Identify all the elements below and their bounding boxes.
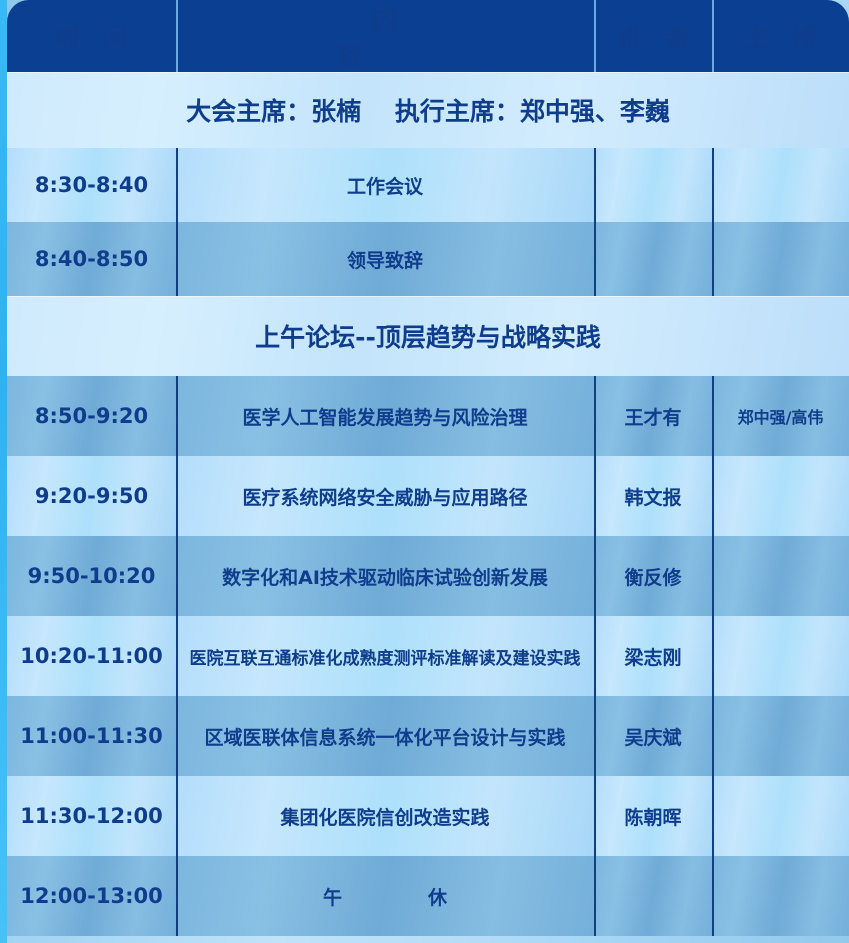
table-row: 8:30-8:40 工作会议 — [7, 148, 849, 222]
cell-speaker: 吴庆斌 — [594, 696, 712, 776]
cell-host — [712, 536, 849, 616]
section-banner-text: 上午论坛--顶层趋势与战略实践 — [7, 296, 849, 376]
cell-host — [712, 456, 849, 536]
cell-content: 领导致辞 — [176, 222, 594, 296]
chair-banner-text: 大会主席：张楠 执行主席：郑中强、李巍 — [7, 72, 849, 148]
cell-time: 9:20-9:50 — [7, 456, 176, 536]
section-banner-row: 上午论坛--顶层趋势与战略实践 — [7, 296, 849, 376]
cell-host — [712, 856, 849, 936]
cell-content: 数字化和AI技术驱动临床试验创新发展 — [176, 536, 594, 616]
cell-host — [712, 616, 849, 696]
table-row: 11:00-11:30 区域医联体信息系统一体化平台设计与实践 吴庆斌 — [7, 696, 849, 776]
table-row: 8:40-8:50 领导致辞 — [7, 222, 849, 296]
cell-content: 集团化医院信创改造实践 — [176, 776, 594, 856]
left-accent-rail — [0, 0, 7, 943]
conference-schedule-table: 时 间 内 容 讲 者 主 持 大会主席：张楠 执行主席：郑中强、李巍 8:30… — [7, 0, 849, 936]
cell-content: 医学人工智能发展趋势与风险治理 — [176, 376, 594, 456]
table-row: 11:30-12:00 集团化医院信创改造实践 陈朝晖 — [7, 776, 849, 856]
header-row: 时 间 内 容 讲 者 主 持 — [7, 0, 849, 72]
cell-speaker: 陈朝晖 — [594, 776, 712, 856]
table-row: 9:50-10:20 数字化和AI技术驱动临床试验创新发展 衡反修 — [7, 536, 849, 616]
table-row-break: 12:00-13:00 午 休 — [7, 856, 849, 936]
cell-speaker — [594, 222, 712, 296]
cell-host — [712, 222, 849, 296]
cell-speaker — [594, 148, 712, 222]
cell-host: 郑中强/高伟 — [712, 376, 849, 456]
column-header-host: 主 持 — [712, 0, 849, 72]
cell-time: 11:30-12:00 — [7, 776, 176, 856]
cell-content: 医院互联互通标准化成熟度测评标准解读及建设实践 — [176, 616, 594, 696]
column-header-speaker: 讲 者 — [594, 0, 712, 72]
cell-speaker: 衡反修 — [594, 536, 712, 616]
schedule-poster: 时 间 内 容 讲 者 主 持 大会主席：张楠 执行主席：郑中强、李巍 8:30… — [0, 0, 849, 943]
cell-content: 午 休 — [176, 856, 594, 936]
cell-host — [712, 776, 849, 856]
cell-time: 8:40-8:50 — [7, 222, 176, 296]
cell-host — [712, 148, 849, 222]
cell-time: 11:00-11:30 — [7, 696, 176, 776]
cell-time: 10:20-11:00 — [7, 616, 176, 696]
cell-host — [712, 696, 849, 776]
cell-time: 8:50-9:20 — [7, 376, 176, 456]
table-body: 大会主席：张楠 执行主席：郑中强、李巍 8:30-8:40 工作会议 8:40-… — [7, 72, 849, 936]
table-header: 时 间 内 容 讲 者 主 持 — [7, 0, 849, 72]
cell-speaker — [594, 856, 712, 936]
column-header-content: 内 容 — [176, 0, 594, 72]
cell-speaker: 王才有 — [594, 376, 712, 456]
cell-content: 医疗系统网络安全威胁与应用路径 — [176, 456, 594, 536]
cell-time: 12:00-13:00 — [7, 856, 176, 936]
cell-content: 区域医联体信息系统一体化平台设计与实践 — [176, 696, 594, 776]
cell-time: 8:30-8:40 — [7, 148, 176, 222]
table-row: 9:20-9:50 医疗系统网络安全威胁与应用路径 韩文报 — [7, 456, 849, 536]
cell-speaker: 梁志刚 — [594, 616, 712, 696]
cell-content: 工作会议 — [176, 148, 594, 222]
table-row: 8:50-9:20 医学人工智能发展趋势与风险治理 王才有 郑中强/高伟 — [7, 376, 849, 456]
cell-speaker: 韩文报 — [594, 456, 712, 536]
column-header-time: 时 间 — [7, 0, 176, 72]
table-row: 10:20-11:00 医院互联互通标准化成熟度测评标准解读及建设实践 梁志刚 — [7, 616, 849, 696]
cell-time: 9:50-10:20 — [7, 536, 176, 616]
chair-banner-row: 大会主席：张楠 执行主席：郑中强、李巍 — [7, 72, 849, 148]
